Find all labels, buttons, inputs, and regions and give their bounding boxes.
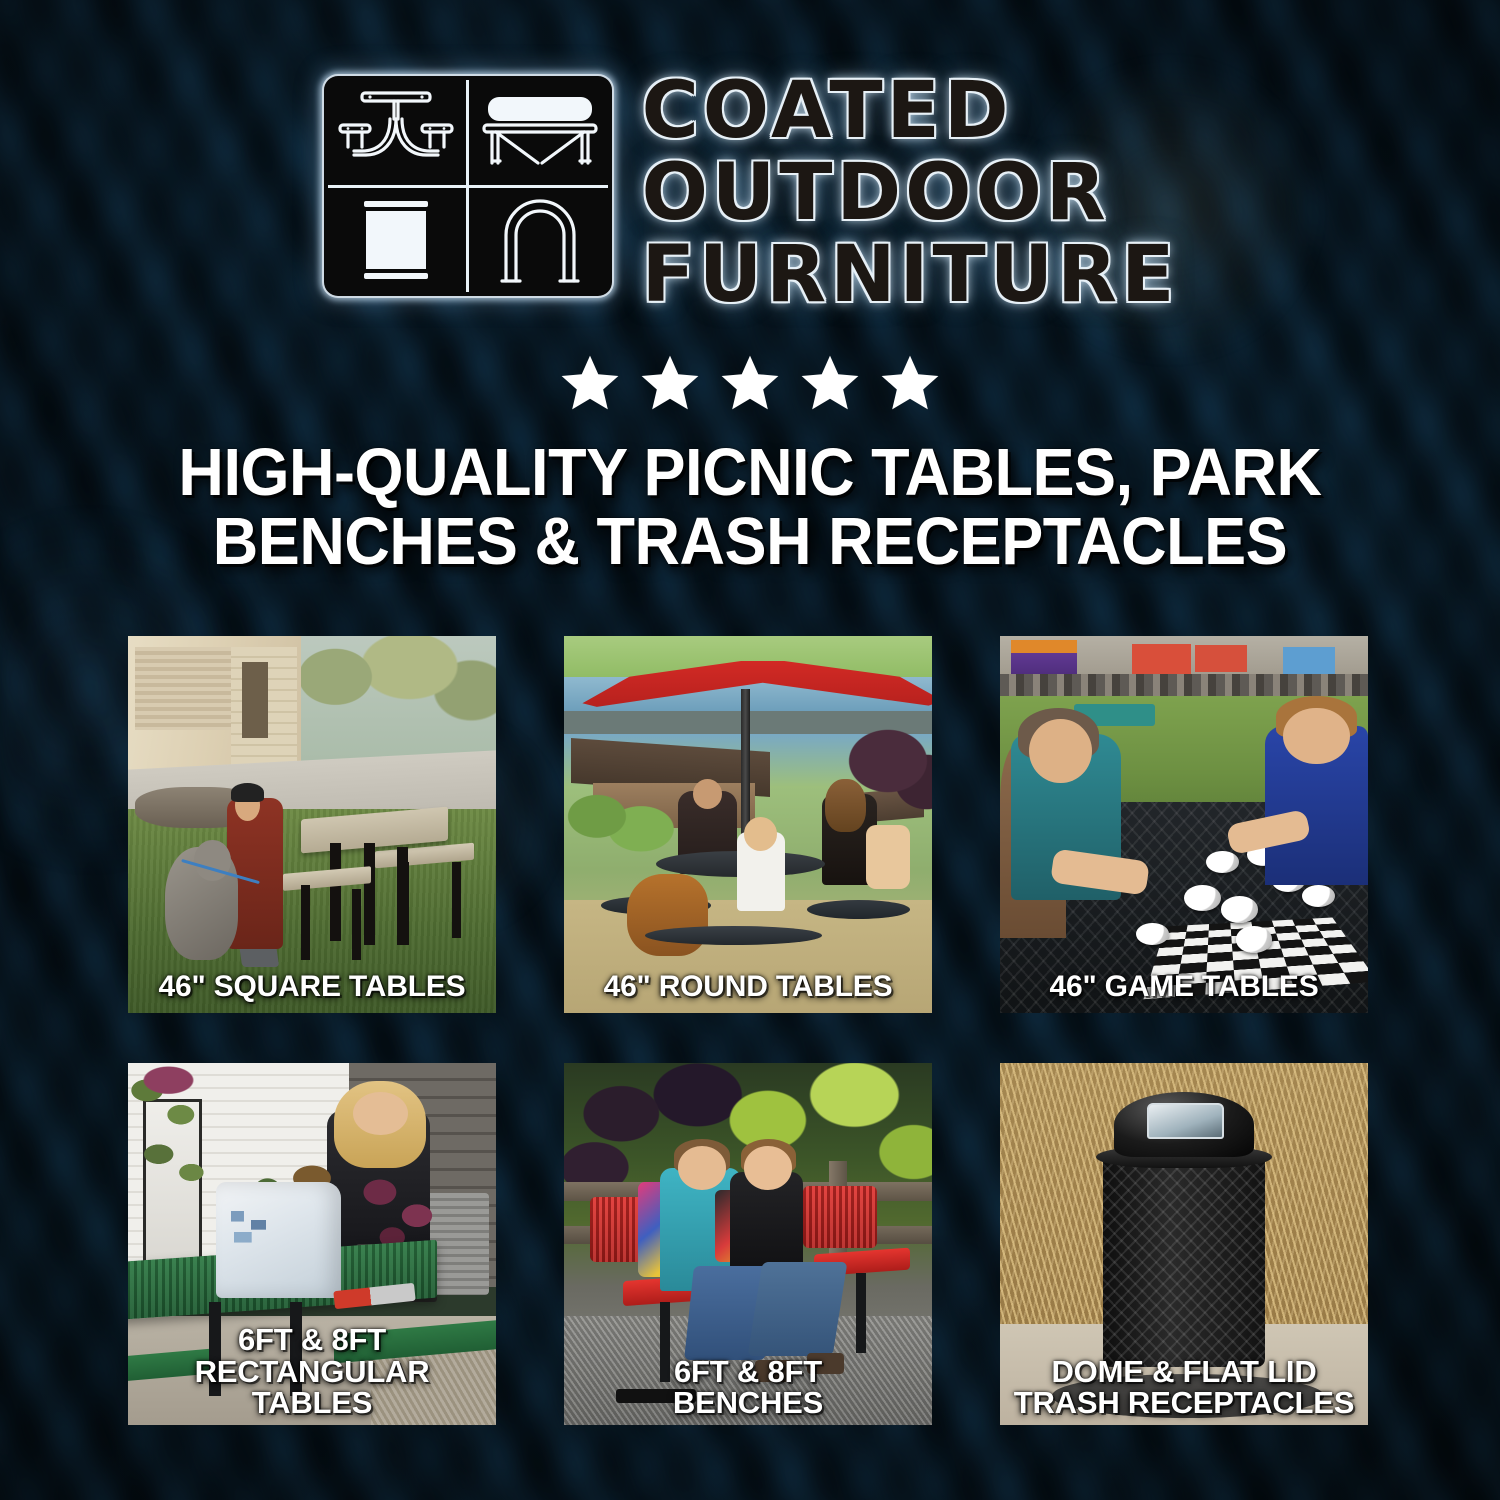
product-label-line-1: 6FT & 8FT [674,1354,822,1389]
star-rating [0,352,1500,414]
product-label-line-1: 46" SQUARE TABLES [159,970,466,1003]
logo-mark [322,74,614,298]
product-label-trash-receptacles: DOME & FLAT LID TRASH RECEPTACLES [1006,1356,1362,1419]
bench-icon [468,76,612,186]
product-image-square-tables [128,636,496,1013]
star-icon [638,352,702,414]
page-title: HIGH-QUALITY PICNIC TABLES, PARK BENCHES… [101,438,1398,576]
product-grid: 46" SQUARE TABLES [128,636,1368,1425]
product-label-line-1: 6FT & 8FT [238,1322,386,1357]
product-card-square-tables[interactable]: 46" SQUARE TABLES [128,636,496,1013]
product-label-line-1: 46" GAME TABLES [1049,970,1318,1003]
product-card-round-tables[interactable]: 46" ROUND TABLES [564,636,932,1013]
logo-line-2: OUTDOOR [642,158,1179,230]
product-label-line-1: DOME & FLAT LID [1051,1354,1316,1389]
logo-wordmark: COATED OUTDOOR FURNITURE [642,74,1179,311]
product-label-line-1: 46" ROUND TABLES [604,970,893,1003]
logo-divider-horizontal [328,185,608,188]
star-icon [878,352,942,414]
headline-line-2: BENCHES & TRASH RECEPTACLES [101,507,1398,576]
product-label-round-tables: 46" ROUND TABLES [570,972,926,1003]
product-image-game-tables [1000,636,1368,1013]
product-card-trash-receptacles[interactable]: DOME & FLAT LID TRASH RECEPTACLES [1000,1063,1368,1425]
product-card-rectangular-tables[interactable]: 6FT & 8FT RECTANGULAR TABLES [128,1063,496,1425]
product-label-game-tables: 46" GAME TABLES [1006,972,1362,1003]
picnic-table-icon [324,76,468,186]
product-label-rectangular-tables: 6FT & 8FT RECTANGULAR TABLES [134,1324,490,1419]
product-label-benches: 6FT & 8FT BENCHES [570,1356,926,1419]
logo-line-1: COATED [642,76,1179,148]
product-label-line-2: RECTANGULAR TABLES [134,1356,490,1419]
product-label-square-tables: 46" SQUARE TABLES [134,972,490,1003]
headline-line-1: HIGH-QUALITY PICNIC TABLES, PARK [101,438,1398,507]
product-label-line-2: BENCHES [570,1387,926,1419]
product-image-round-tables [564,636,932,1013]
product-card-game-tables[interactable]: 46" GAME TABLES [1000,636,1368,1013]
product-card-benches[interactable]: 6FT & 8FT BENCHES [564,1063,932,1425]
logo-line-3: FURNITURE [642,240,1179,312]
trash-receptacle-icon [324,186,468,296]
product-label-line-2: TRASH RECEPTACLES [1006,1387,1362,1419]
brand-logo: COATED OUTDOOR FURNITURE [0,74,1500,311]
bike-rack-icon [468,186,612,296]
star-icon [798,352,862,414]
star-icon [558,352,622,414]
star-icon [718,352,782,414]
